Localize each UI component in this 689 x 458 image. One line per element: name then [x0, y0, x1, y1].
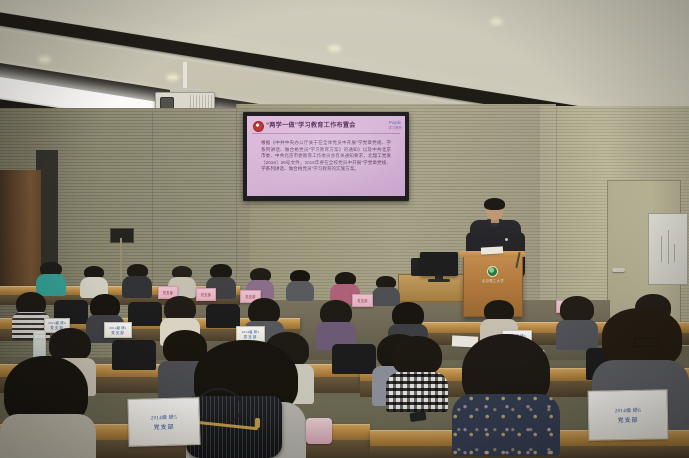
downlight-icon [40, 58, 49, 61]
projection-screen: “两学一做”学习教育工作布置会 Purple 学习教育 根据《中共中央办公厅关于… [247, 116, 405, 196]
foreground-person-farleft [0, 356, 96, 458]
phone [409, 411, 426, 422]
nameplate-front-left: 2014级 研5 党支部 [127, 397, 200, 447]
nameplate-line2: 党支部 [617, 414, 638, 423]
nameplate-line1: 2014级 研5 [151, 413, 177, 421]
chair [112, 340, 156, 370]
audience-person [286, 270, 314, 298]
person-plaid [386, 336, 448, 402]
university-crest-icon [487, 266, 498, 277]
slide-body-text: 根据《中共中央办公厅关于在全体党员中开展“学党章党规、学系列讲话、做合格党员”学… [261, 140, 391, 173]
pouch [306, 418, 332, 444]
chair [128, 302, 162, 326]
nameplate-line1: 2014级 研6 [615, 406, 641, 413]
audience-person [36, 262, 66, 292]
slide-brand-sub: 学习教育 [388, 125, 402, 130]
party-emblem-icon [253, 121, 264, 132]
nameplate-line2: 党支部 [153, 421, 174, 431]
desktop-monitor [420, 252, 458, 276]
podium-caption: 北京理工大学 [470, 278, 516, 283]
audience-person [316, 300, 356, 342]
speaker-hair [484, 198, 505, 210]
foreground-person-floral [452, 334, 560, 450]
audience-person [372, 276, 400, 302]
downlight-icon [330, 47, 339, 50]
chair [206, 304, 240, 328]
backpack-zipper-pull [255, 418, 260, 428]
chair [332, 344, 376, 374]
nameplate: 2014级 研1 党支部 [104, 322, 132, 338]
downlight-icon [168, 76, 177, 79]
podium-papers [481, 246, 503, 254]
backpack-strap [196, 388, 242, 426]
nameplate-front-right: 2014级 研6 党支部 [588, 389, 669, 440]
projector-mount-pole [183, 62, 187, 90]
door-handle-icon[interactable] [612, 268, 625, 272]
audience-person [122, 264, 152, 294]
speaker-badge [505, 238, 508, 241]
glasses-icon [634, 338, 658, 347]
audience-person [80, 266, 108, 294]
monitor-foot [428, 279, 450, 282]
lecture-hall-photo: “两学一做”学习教育工作布置会 Purple 学习教育 根据《中共中央办公厅关于… [0, 0, 689, 458]
slide-title: “两学一做”学习教育工作布置会 [266, 120, 376, 129]
whiteboard [648, 213, 688, 285]
downlight-icon [492, 20, 501, 23]
microphone-stand-plate [110, 228, 134, 243]
slide-divider [252, 133, 400, 134]
